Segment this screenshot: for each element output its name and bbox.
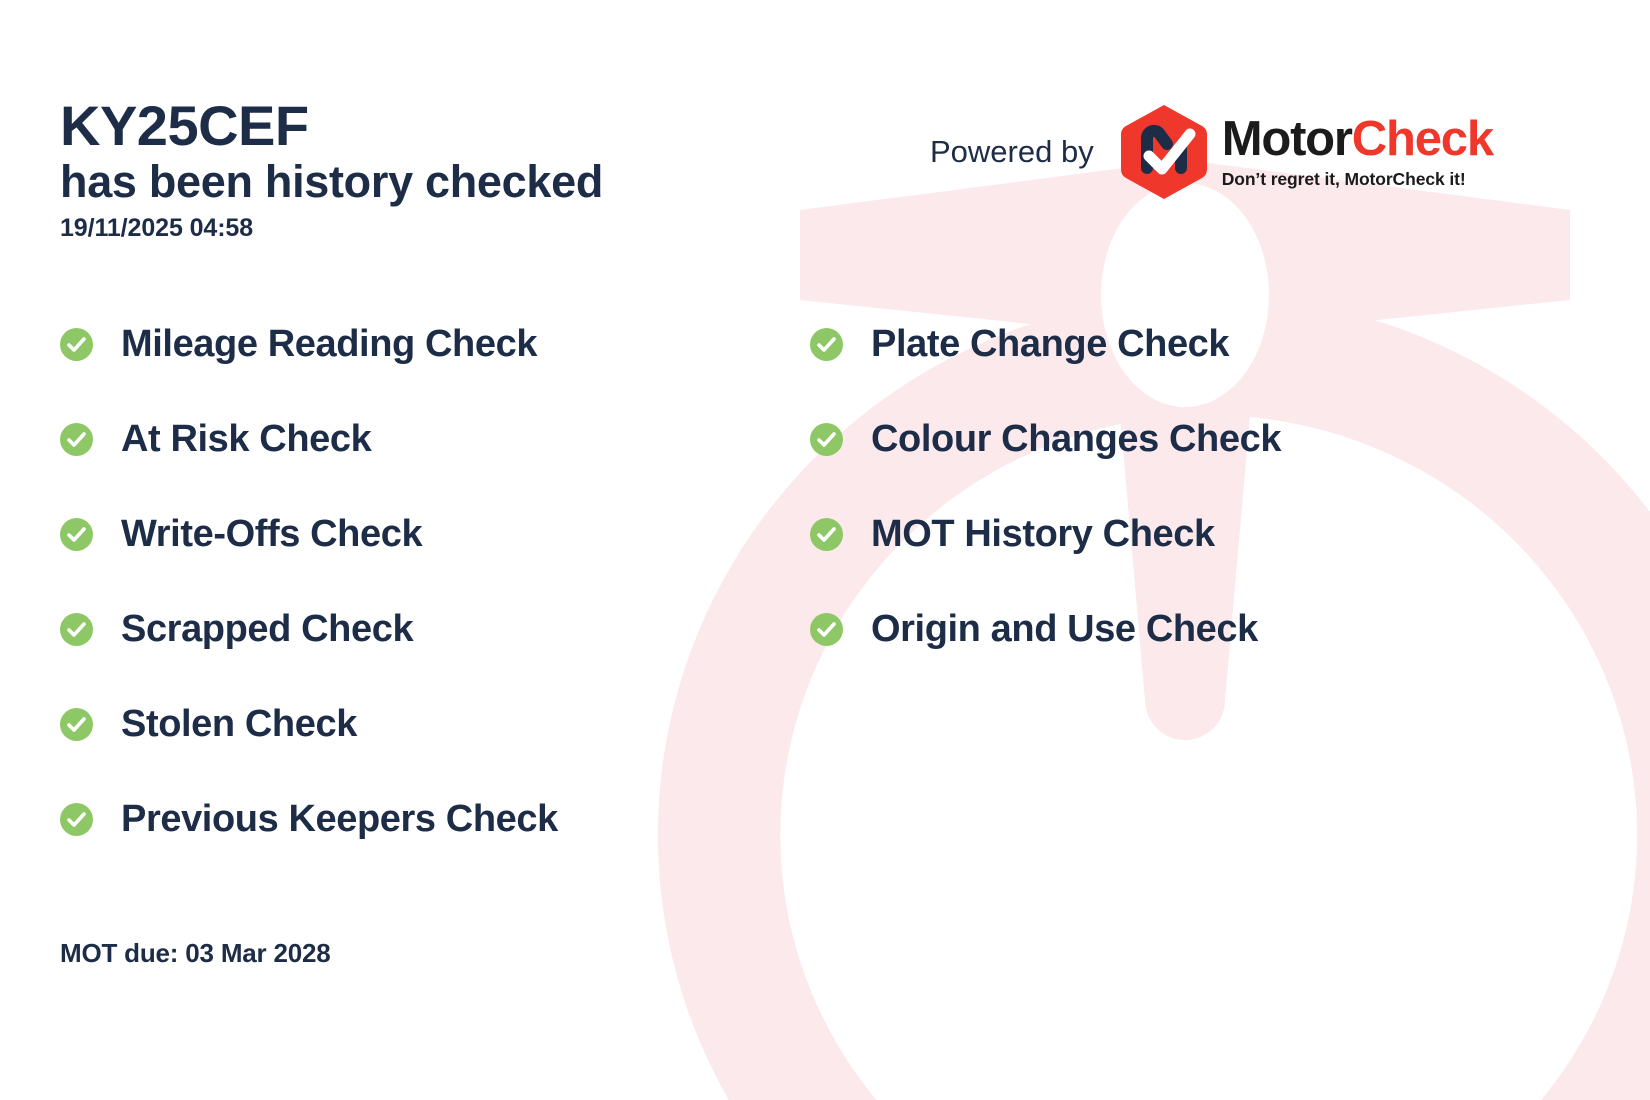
powered-by-label: Powered by <box>930 134 1094 170</box>
logo-wordmark-line: MotorCheck <box>1222 115 1493 164</box>
motorcheck-wordmark: MotorCheck Don’t regret it, MotorCheck i… <box>1222 115 1493 189</box>
vehicle-history-check-card: KY25CEF has been history checked 19/11/2… <box>0 0 1650 1100</box>
checks-column-right: Plate Change Check Colour Changes Check … <box>810 312 1281 692</box>
check-circle-icon <box>60 803 93 836</box>
list-item: Previous Keepers Check <box>60 787 558 851</box>
list-item: MOT History Check <box>810 502 1281 566</box>
check-label: Previous Keepers Check <box>121 800 558 838</box>
check-circle-icon <box>810 423 843 456</box>
card-content: KY25CEF has been history checked 19/11/2… <box>0 0 1650 1100</box>
check-label: Colour Changes Check <box>871 420 1281 458</box>
logo-word-motor: Motor <box>1222 112 1352 166</box>
check-label: MOT History Check <box>871 515 1215 553</box>
check-circle-icon <box>60 518 93 551</box>
header: KY25CEF has been history checked 19/11/2… <box>60 96 603 243</box>
check-circle-icon <box>810 328 843 361</box>
check-label: At Risk Check <box>121 420 371 458</box>
check-circle-icon <box>60 613 93 646</box>
check-label: Scrapped Check <box>121 610 413 648</box>
page-title: has been history checked <box>60 156 603 207</box>
list-item: Stolen Check <box>60 692 558 756</box>
powered-by-block: Powered by MotorCheck Don’t regret it, M… <box>930 104 1493 200</box>
list-item: Mileage Reading Check <box>60 312 558 376</box>
list-item: Colour Changes Check <box>810 407 1281 471</box>
check-label: Stolen Check <box>121 705 357 743</box>
check-circle-icon <box>60 708 93 741</box>
check-label: Mileage Reading Check <box>121 325 537 363</box>
check-label: Write-Offs Check <box>121 515 422 553</box>
check-circle-icon <box>60 328 93 361</box>
list-item: Scrapped Check <box>60 597 558 661</box>
check-timestamp: 19/11/2025 04:58 <box>60 214 603 243</box>
checks-column-left: Mileage Reading Check At Risk Check Writ… <box>60 312 558 882</box>
logo-word-check: Check <box>1352 112 1493 166</box>
logo-tagline: Don’t regret it, MotorCheck it! <box>1222 171 1493 189</box>
mot-due-label: MOT due: 03 Mar 2028 <box>60 938 331 969</box>
check-circle-icon <box>810 518 843 551</box>
registration-plate: KY25CEF <box>60 96 603 156</box>
motorcheck-hexagon-icon <box>1120 104 1208 200</box>
check-circle-icon <box>60 423 93 456</box>
check-label: Origin and Use Check <box>871 610 1258 648</box>
list-item: Origin and Use Check <box>810 597 1281 661</box>
check-circle-icon <box>810 613 843 646</box>
check-label: Plate Change Check <box>871 325 1229 363</box>
motorcheck-logo[interactable]: MotorCheck Don’t regret it, MotorCheck i… <box>1120 104 1493 200</box>
list-item: Plate Change Check <box>810 312 1281 376</box>
list-item: At Risk Check <box>60 407 558 471</box>
list-item: Write-Offs Check <box>60 502 558 566</box>
